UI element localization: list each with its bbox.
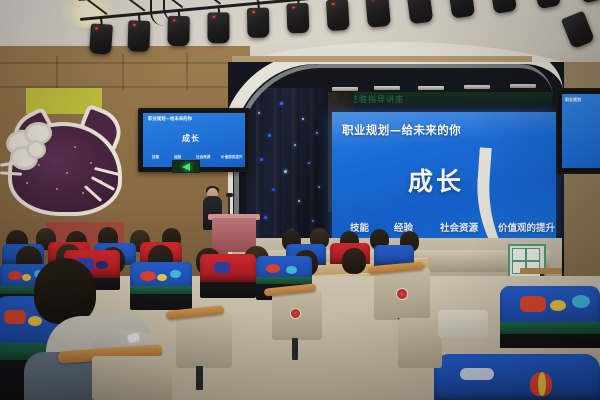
- mini-slide-title: 职业规划—给未来的你: [148, 116, 192, 122]
- stage-light-9[interactable]: [406, 0, 433, 24]
- seat-cover: [500, 286, 600, 334]
- stage-light-5-led-icon: [252, 11, 255, 13]
- seat-cover: [200, 254, 256, 282]
- wall-panel-line-3: [56, 56, 58, 90]
- stage-light-6[interactable]: [286, 3, 309, 34]
- seat-back[interactable]: [200, 254, 256, 298]
- seat-back[interactable]: [130, 262, 192, 310]
- seat-shell[interactable]: [176, 312, 232, 368]
- seat-cushion: [438, 310, 488, 338]
- seat-cover: [434, 354, 600, 400]
- left-monitor-screen: 职业规划—给未来的你 成长 技能 经验 社会资源 价值观的提升: [143, 113, 245, 167]
- mini-slide-headline: 成长: [182, 133, 200, 144]
- seat-shell[interactable]: [398, 318, 442, 368]
- seat-leg: [196, 366, 203, 390]
- stage-light-1-led-icon: [95, 27, 98, 29]
- seat-shell[interactable]: [92, 356, 172, 400]
- hello-kitty-mural: [2, 104, 124, 216]
- stage-light-7-led-icon: [332, 3, 335, 5]
- right-monitor-title: 职业规划: [565, 97, 581, 103]
- stage-light-6-led-icon: [292, 6, 295, 8]
- foreground-student-head: [34, 258, 96, 324]
- seat-badge: [290, 308, 301, 319]
- stage-light-7[interactable]: [326, 0, 350, 31]
- wall-panel-line-5: [186, 52, 188, 90]
- stage-light-2-led-icon: [133, 24, 136, 26]
- wall-panel-line-4: [122, 54, 124, 90]
- seat-cover: [256, 256, 312, 284]
- microphone-icon: [226, 193, 233, 197]
- stage-light-11[interactable]: [490, 0, 518, 14]
- stage-light-10[interactable]: [448, 0, 475, 19]
- seat-back[interactable]: [434, 354, 600, 400]
- seat-badge: [396, 288, 408, 300]
- mini-slide-item-1: 技能: [152, 155, 159, 160]
- stage-light-8[interactable]: [365, 0, 391, 28]
- audience-head: [342, 248, 366, 274]
- wall-panel-line-2: [0, 62, 236, 64]
- stage-light-12[interactable]: [533, 0, 562, 9]
- seat-leg: [292, 338, 298, 360]
- exit-sign: [172, 160, 200, 173]
- stage-light-4-led-icon: [212, 16, 215, 18]
- auditorium-photo: 热烈欢迎专家莅临指导讲座: [0, 0, 600, 400]
- seat-back[interactable]: [500, 286, 600, 348]
- stage-light-13[interactable]: [576, 0, 600, 4]
- kitty-bow-center: [26, 140, 46, 159]
- stage-light-1[interactable]: [89, 23, 113, 54]
- right-monitor-screen: 职业规划: [562, 94, 600, 168]
- mini-slide-item-4: 价值观的提升: [221, 155, 243, 160]
- right-wall-monitor[interactable]: 职业规划: [556, 88, 600, 174]
- stage-light-5[interactable]: [247, 8, 270, 38]
- seat-cover: [130, 262, 192, 294]
- exit-arrow-icon: [182, 163, 190, 171]
- stage-light-4[interactable]: [207, 12, 229, 43]
- stage-light-2[interactable]: [127, 20, 150, 52]
